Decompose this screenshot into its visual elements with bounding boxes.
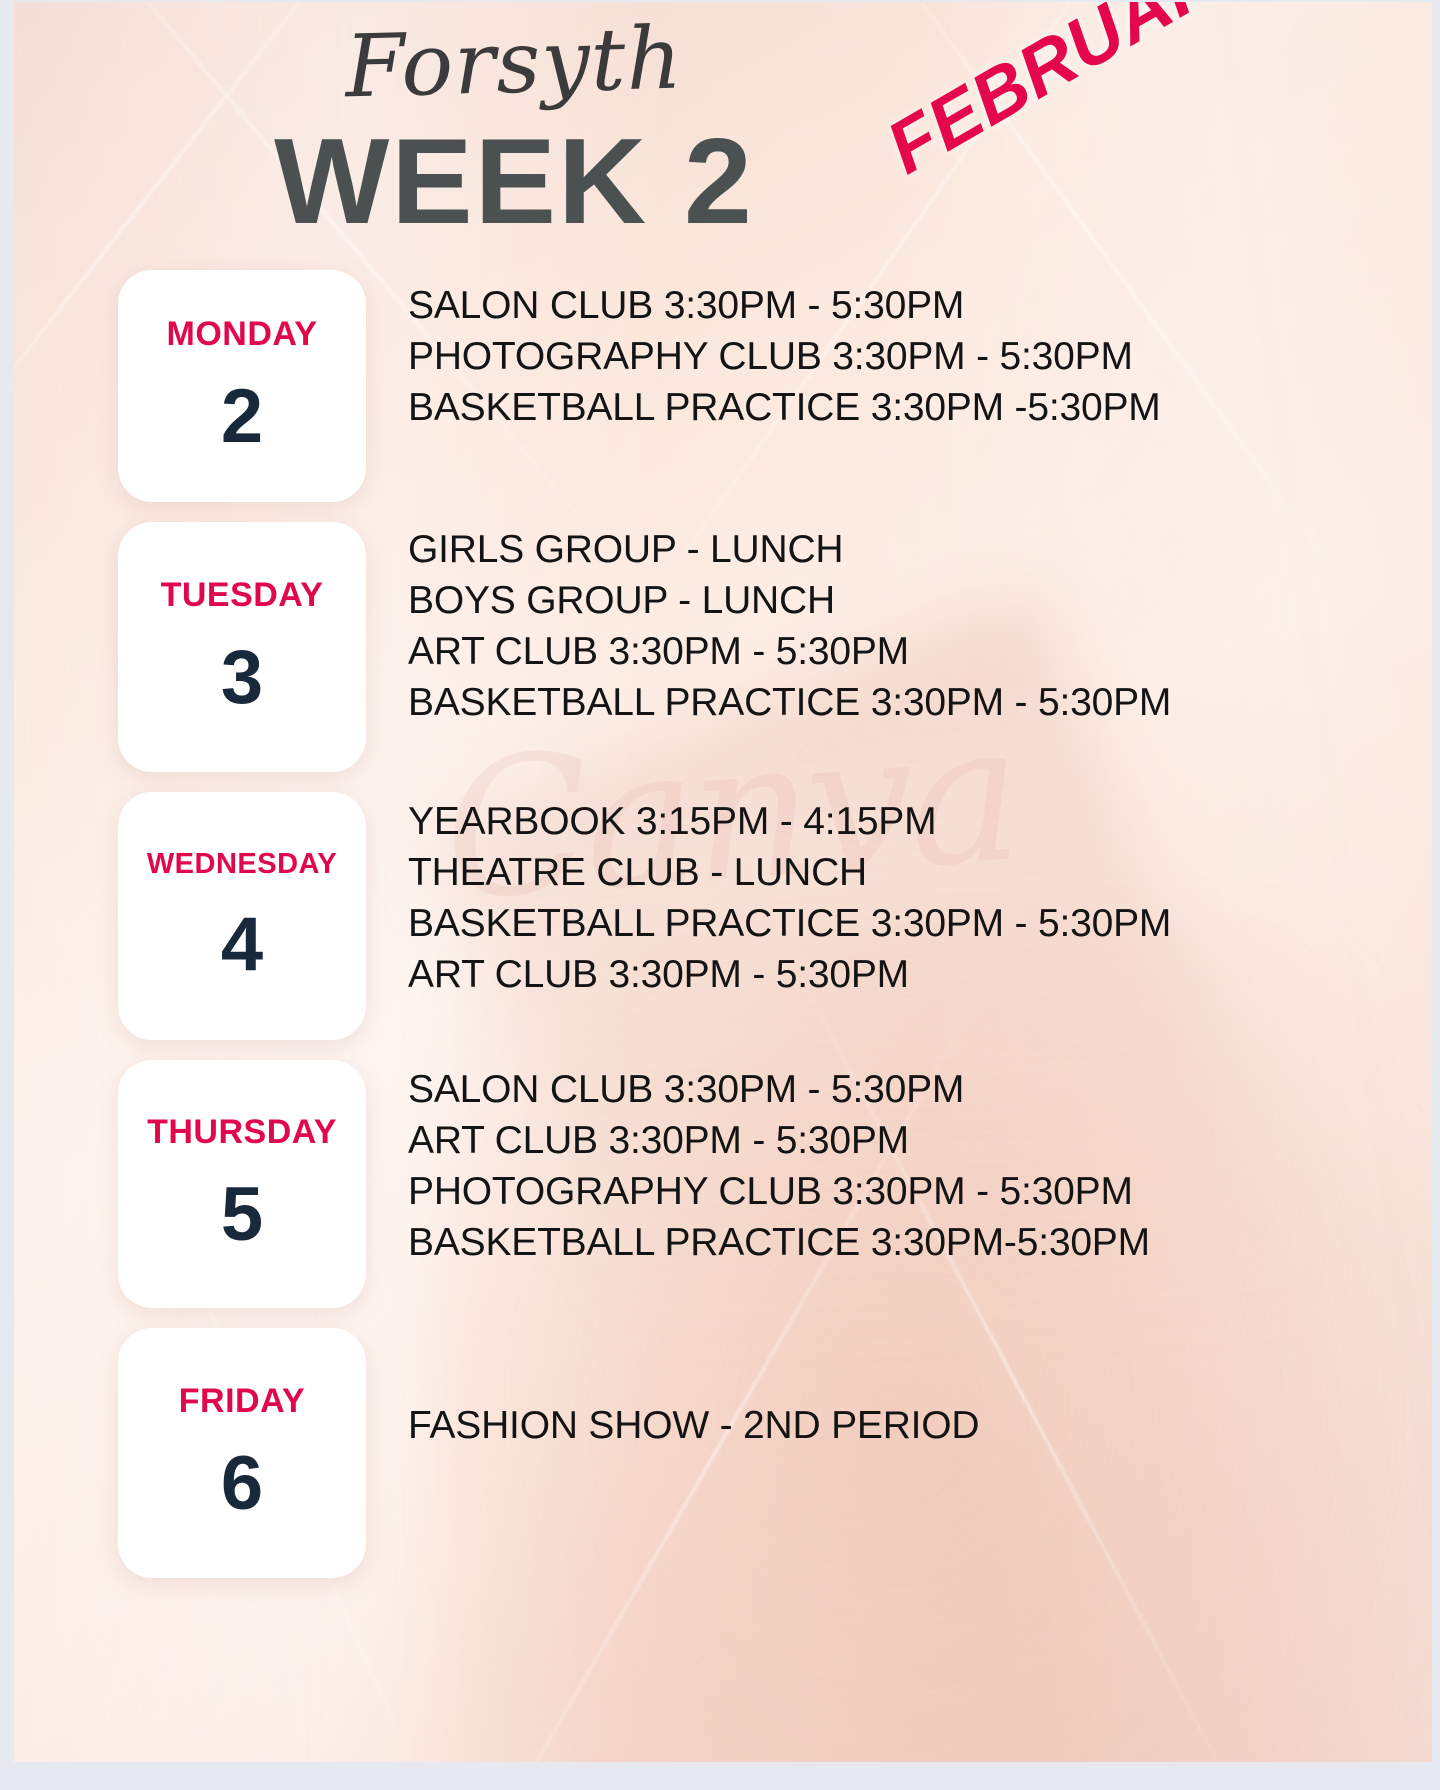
event-line: BASKETBALL PRACTICE 3:30PM - 5:30PM <box>408 677 1408 728</box>
event-line: ART CLUB 3:30PM - 5:30PM <box>408 626 1408 677</box>
event-line: PHOTOGRAPHY CLUB 3:30PM - 5:30PM <box>408 331 1408 382</box>
day-row: TUESDAY3GIRLS GROUP - LUNCHBOYS GROUP - … <box>14 512 1432 782</box>
poster-frame: Canva Forsyth WEEK 2 FEBRUARY MONDAY2SAL… <box>0 0 1440 1790</box>
schedule-list: MONDAY2SALON CLUB 3:30PM - 5:30PMPHOTOGR… <box>14 260 1432 1760</box>
day-row: WEDNESDAY4YEARBOOK 3:15PM - 4:15PMTHEATR… <box>14 782 1432 1050</box>
event-line: BASKETBALL PRACTICE 3:30PM - 5:30PM <box>408 898 1408 949</box>
day-number: 2 <box>221 379 263 455</box>
day-name: MONDAY <box>167 317 318 351</box>
day-row: FRIDAY6FASHION SHOW - 2ND PERIOD <box>14 1318 1432 1760</box>
day-name: THURSDAY <box>147 1115 337 1149</box>
day-number: 5 <box>221 1177 263 1253</box>
day-card-wednesday[interactable]: WEDNESDAY4 <box>118 792 366 1040</box>
day-events: SALON CLUB 3:30PM - 5:30PMPHOTOGRAPHY CL… <box>408 280 1408 433</box>
event-line: SALON CLUB 3:30PM - 5:30PM <box>408 1064 1408 1115</box>
poster-header: Forsyth WEEK 2 FEBRUARY <box>14 2 1432 262</box>
day-row: THURSDAY5SALON CLUB 3:30PM - 5:30PMART C… <box>14 1050 1432 1318</box>
weekly-schedule-poster: Canva Forsyth WEEK 2 FEBRUARY MONDAY2SAL… <box>14 2 1432 1762</box>
event-line: FASHION SHOW - 2ND PERIOD <box>408 1400 1408 1451</box>
event-line: ART CLUB 3:30PM - 5:30PM <box>408 1115 1408 1166</box>
day-card-thursday[interactable]: THURSDAY5 <box>118 1060 366 1308</box>
day-number: 4 <box>221 907 263 983</box>
day-card-friday[interactable]: FRIDAY6 <box>118 1328 366 1578</box>
event-line: ART CLUB 3:30PM - 5:30PM <box>408 949 1408 1000</box>
day-number: 3 <box>221 640 263 716</box>
day-row: MONDAY2SALON CLUB 3:30PM - 5:30PMPHOTOGR… <box>14 260 1432 512</box>
day-events: YEARBOOK 3:15PM - 4:15PMTHEATRE CLUB - L… <box>408 796 1408 1000</box>
day-name: FRIDAY <box>179 1384 305 1418</box>
day-number: 6 <box>221 1446 263 1522</box>
day-events: SALON CLUB 3:30PM - 5:30PMART CLUB 3:30P… <box>408 1064 1408 1268</box>
event-line: BASKETBALL PRACTICE 3:30PM -5:30PM <box>408 382 1408 433</box>
day-events: FASHION SHOW - 2ND PERIOD <box>408 1400 1408 1451</box>
day-card-monday[interactable]: MONDAY2 <box>118 270 366 502</box>
event-line: GIRLS GROUP - LUNCH <box>408 524 1408 575</box>
school-name-script: Forsyth <box>14 7 1015 119</box>
page-title: WEEK 2 <box>14 120 1014 242</box>
event-line: BASKETBALL PRACTICE 3:30PM-5:30PM <box>408 1217 1408 1268</box>
event-line: YEARBOOK 3:15PM - 4:15PM <box>408 796 1408 847</box>
event-line: THEATRE CLUB - LUNCH <box>408 847 1408 898</box>
day-events: GIRLS GROUP - LUNCHBOYS GROUP - LUNCHART… <box>408 524 1408 728</box>
event-line: PHOTOGRAPHY CLUB 3:30PM - 5:30PM <box>408 1166 1408 1217</box>
event-line: SALON CLUB 3:30PM - 5:30PM <box>408 280 1408 331</box>
day-name: WEDNESDAY <box>147 850 337 879</box>
event-line: BOYS GROUP - LUNCH <box>408 575 1408 626</box>
day-card-tuesday[interactable]: TUESDAY3 <box>118 522 366 772</box>
day-name: TUESDAY <box>161 578 324 612</box>
